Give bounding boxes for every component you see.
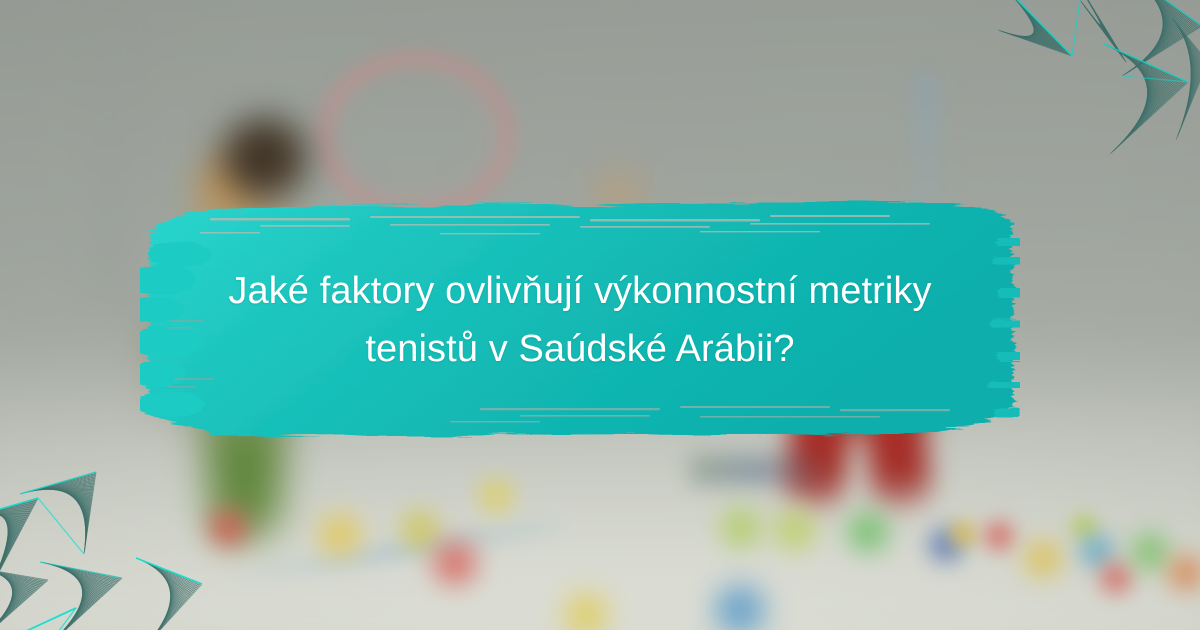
background-toy-dot	[950, 521, 976, 547]
background-shelf	[690, 455, 820, 485]
headline-line-2: tenistů v Saúdské Arábii?	[200, 320, 960, 378]
background-toy-dot	[319, 514, 361, 556]
background-blue-streak	[916, 72, 936, 212]
background-toy-dot	[209, 509, 247, 547]
background-toy-dot	[984, 521, 1014, 551]
background-toy-dot	[479, 479, 513, 513]
background-toy-dot	[721, 508, 761, 548]
background-child-hair	[222, 118, 308, 200]
headline-line-1: Jaké faktory ovlivňují výkonnostní metri…	[200, 262, 960, 320]
headline: Jaké faktory ovlivňují výkonnostní metri…	[200, 262, 960, 378]
background-toy-dot	[848, 512, 888, 552]
background-toy-dot	[1168, 555, 1200, 591]
background-toy-dot	[1131, 533, 1169, 571]
background-toy-dot	[775, 510, 815, 550]
background-hoop-ring-inner	[330, 60, 492, 198]
background-toy-dot	[564, 593, 608, 630]
background-toy-dot	[1100, 562, 1132, 594]
social-card: Jaké faktory ovlivňují výkonnostní metri…	[0, 0, 1200, 630]
background-toy-dot	[434, 542, 476, 584]
background-toy-dot	[716, 586, 764, 630]
background-toy-dot	[1024, 540, 1062, 578]
background-wall-streak	[96, 0, 122, 300]
background-toy-dot	[401, 511, 439, 549]
